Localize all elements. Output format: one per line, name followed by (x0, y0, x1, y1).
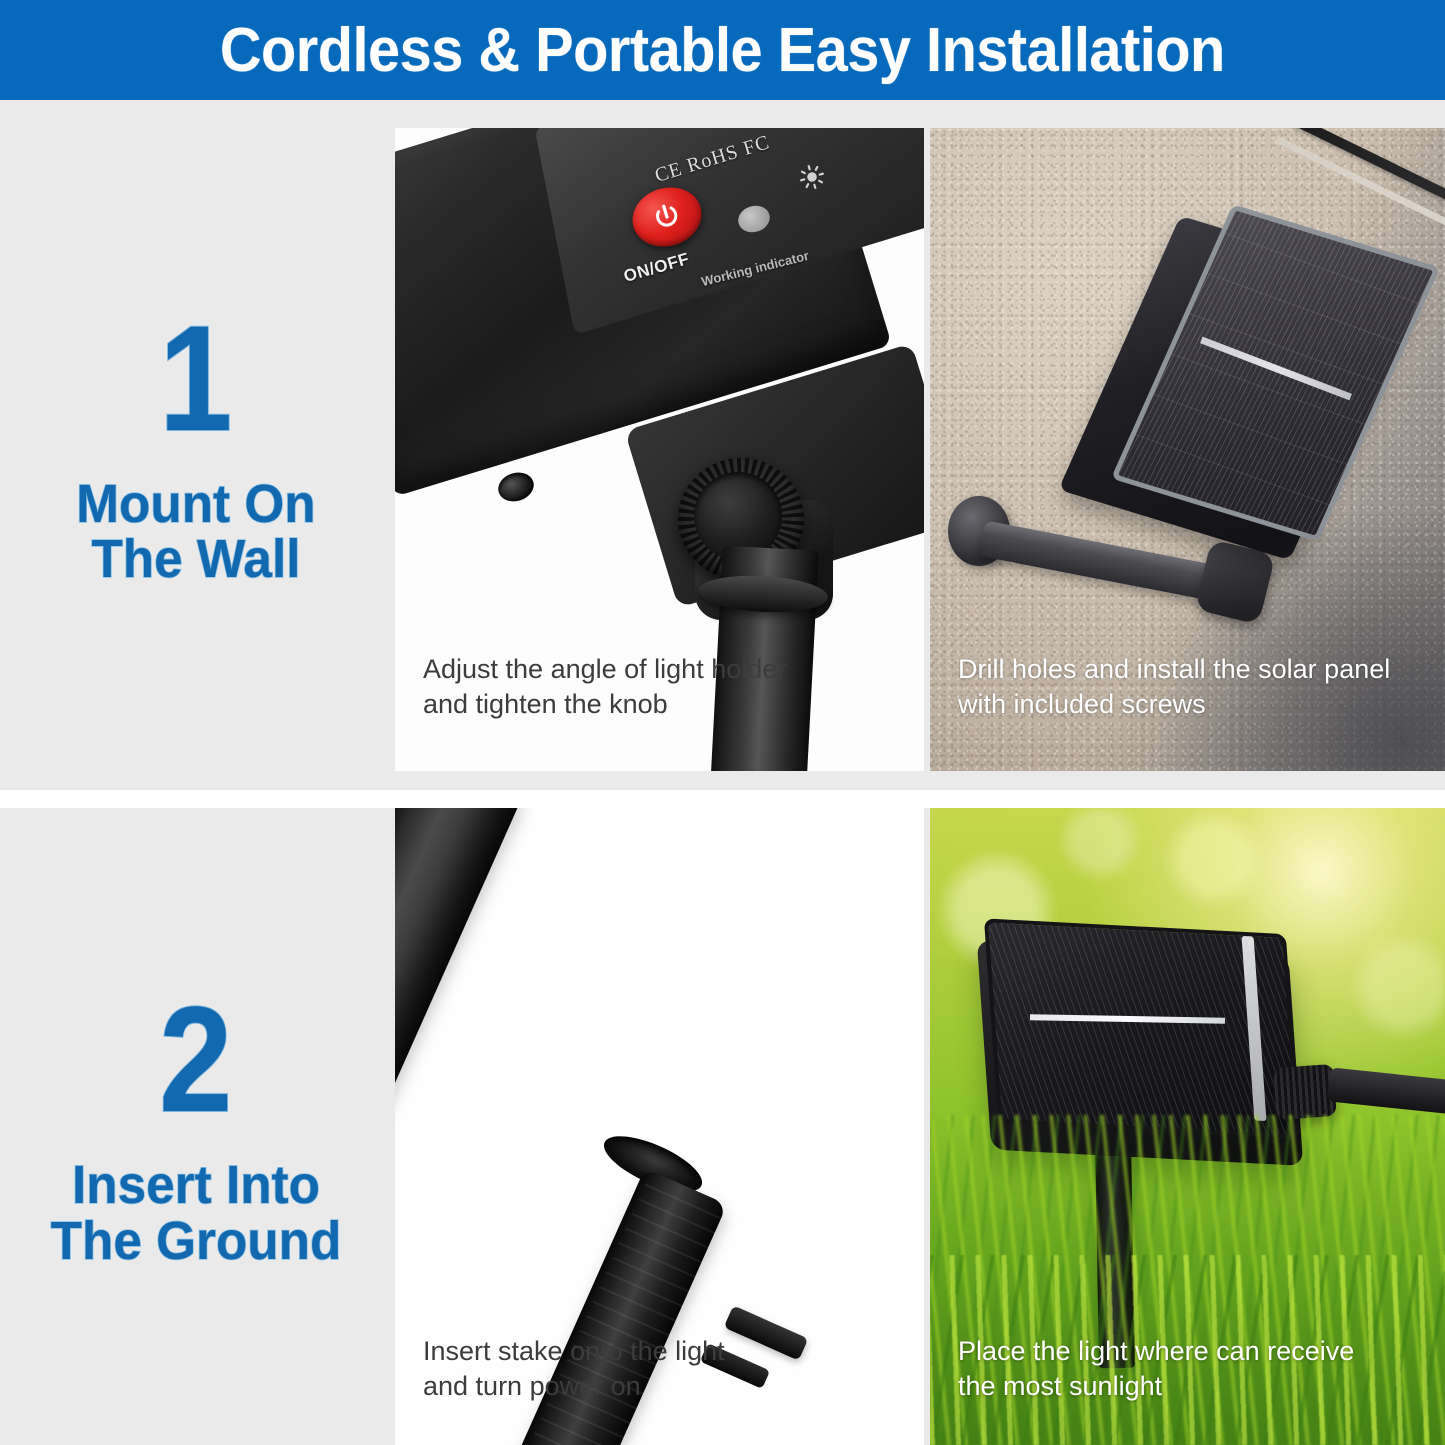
infographic-page: Cordless & Portable Easy Installation 1 … (0, 0, 1445, 1445)
step-1-row: 1 Mount On The Wall CE RoHS FC ON/OFF Wo… (0, 100, 1445, 790)
step-1-number: 1 (159, 303, 232, 453)
step-2-photo-2-caption: Place the light where can receive the mo… (958, 1334, 1428, 1405)
screw-hole (495, 468, 538, 505)
header-banner: Cordless & Portable Easy Installation (0, 0, 1445, 100)
step-1-photo-1-caption: Adjust the angle of light holder and tig… (423, 652, 883, 723)
step-1-photo-light-holder: CE RoHS FC ON/OFF Working indicator (395, 128, 924, 771)
step-1-label-column: 1 Mount On The Wall (0, 100, 392, 804)
step-2-label-column: 2 Insert Into The Ground (0, 808, 392, 1445)
step-1-title: Mount On The Wall (76, 477, 315, 587)
page-title: Cordless & Portable Easy Installation (220, 15, 1225, 86)
wall-shadow-corner (1155, 501, 1445, 771)
step-2-photo-stake-assembly: Insert stake onto the light and turn pow… (395, 808, 924, 1445)
row-divider (0, 790, 1445, 808)
step-1-photo-wall-mount: Drill holes and install the solar panel … (930, 128, 1445, 771)
step-2-row: 2 Insert Into The Ground Insert stake on… (0, 808, 1445, 1445)
step-1-photo-2-caption: Drill holes and install the solar panel … (958, 652, 1428, 723)
step-2-title: Insert Into The Ground (51, 1158, 342, 1268)
step-2-number: 2 (159, 984, 232, 1134)
light-pole-tube (395, 808, 523, 1216)
step-2-photo-grass-placement: Place the light where can receive the mo… (930, 808, 1445, 1445)
step-2-photo-1-caption: Insert stake onto the light and turn pow… (423, 1334, 883, 1405)
power-icon (648, 198, 685, 235)
